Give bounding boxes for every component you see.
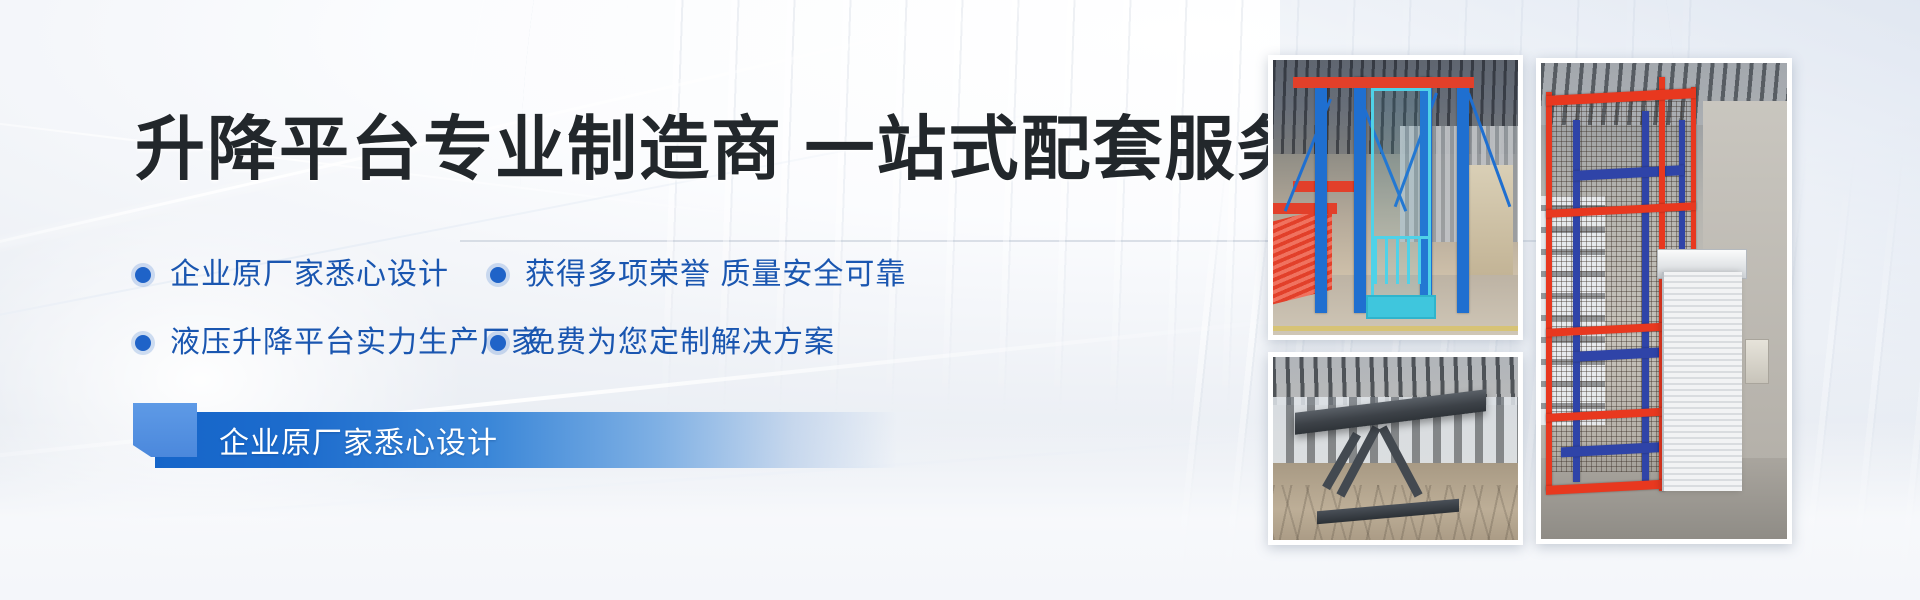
bullet-dot-icon <box>135 267 151 283</box>
feature-item-1: 企业原厂家悉心设计 <box>135 258 490 292</box>
lift-platform <box>1366 295 1436 318</box>
caged-guide-rail-lift-scene <box>1541 63 1787 539</box>
feature-list: 企业原厂家悉心设计 获得多项荣誉 质量安全可靠 液压升降平台实力生产厂家 免费为… <box>135 258 1015 394</box>
highlight-ribbon: 企业原厂家悉心设计 <box>133 412 953 468</box>
product-photo-1 <box>1268 55 1523 340</box>
photo-3-image <box>1541 63 1787 539</box>
red-frame-post <box>1546 92 1552 492</box>
bullet-dot-icon <box>490 335 506 351</box>
red-beam <box>1273 203 1337 214</box>
banner-headline: 升降平台专业制造商 一站式配套服务 <box>135 112 1308 186</box>
feature-item-2: 获得多项荣誉 质量安全可靠 <box>490 258 906 292</box>
ribbon-tab-icon <box>133 403 197 457</box>
control-box <box>1745 339 1769 384</box>
feature-item-4: 免费为您定制解决方案 <box>490 326 835 360</box>
promo-banner: 升降平台专业制造商 一站式配套服务 企业原厂家悉心设计 获得多项荣誉 质量安全可… <box>0 0 1920 600</box>
photo-2-image <box>1273 357 1518 540</box>
ribbon-label: 企业原厂家悉心设计 <box>219 412 498 468</box>
feature-row: 企业原厂家悉心设计 获得多项荣誉 质量安全可靠 <box>135 258 1015 292</box>
warehouse-cargo-lift-scene <box>1273 60 1518 335</box>
photo-1-image <box>1273 60 1518 335</box>
feature-label: 免费为您定制解决方案 <box>525 326 835 360</box>
bullet-dot-icon <box>490 267 506 283</box>
feature-item-3: 液压升降平台实力生产厂家 <box>135 326 490 360</box>
product-photo-2 <box>1268 352 1523 545</box>
blue-upright <box>1457 82 1469 313</box>
banner-content: 升降平台专业制造商 一站式配套服务 企业原厂家悉心设计 获得多项荣誉 质量安全可… <box>0 0 1060 600</box>
feature-label: 获得多项荣誉 质量安全可靠 <box>525 258 906 292</box>
feature-label: 液压升降平台实力生产厂家 <box>170 326 542 360</box>
feature-label: 企业原厂家悉心设计 <box>170 258 449 292</box>
lift-cage-railing <box>1371 88 1431 320</box>
feature-row: 液压升降平台实力生产厂家 免费为您定制解决方案 <box>135 326 1015 360</box>
white-roller-shutter <box>1662 272 1743 491</box>
red-top-beam <box>1293 77 1474 88</box>
product-photo-3 <box>1536 58 1792 544</box>
scissor-lift-scene <box>1273 357 1518 540</box>
bullet-dot-icon <box>135 335 151 351</box>
product-photo-collage <box>1268 0 1920 600</box>
